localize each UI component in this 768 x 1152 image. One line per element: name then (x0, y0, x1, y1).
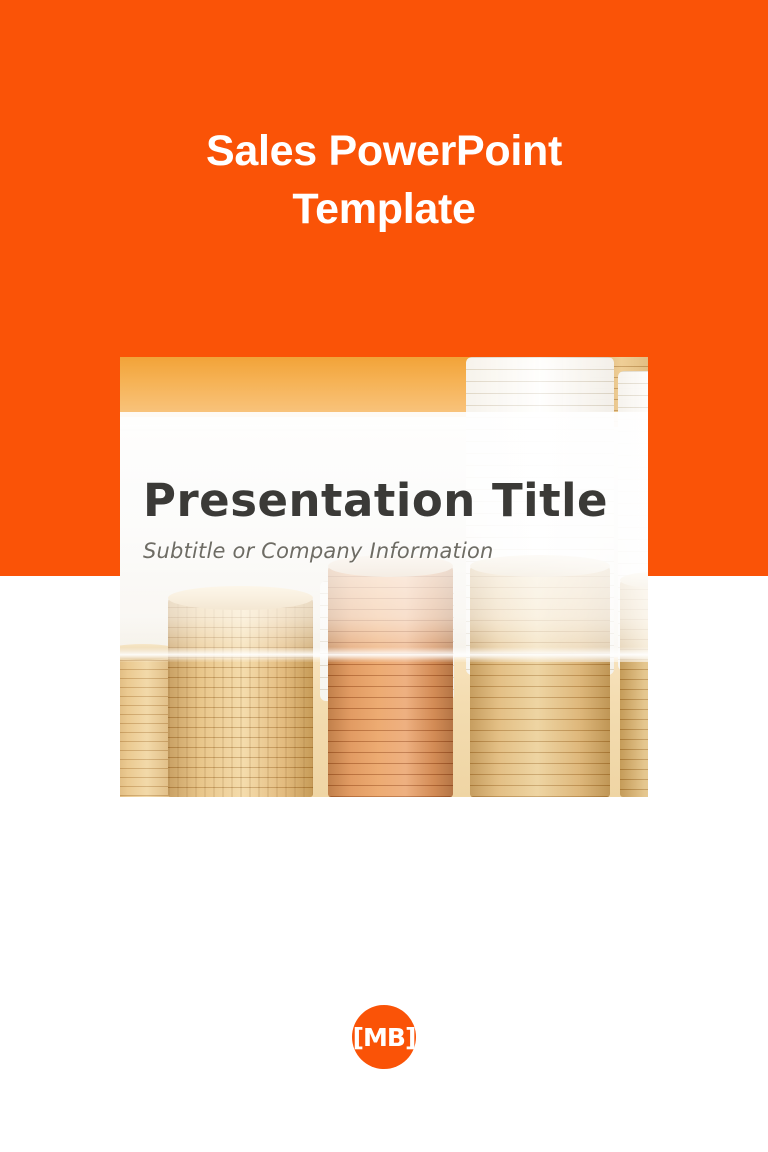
page-title: Sales PowerPoint Template (0, 122, 768, 238)
slide-highlight-seam (120, 647, 648, 661)
coin-stack-4-icon (470, 565, 610, 797)
coin-stack-3-icon (328, 565, 453, 797)
slide-preview-image[interactable]: Presentation Title Subtitle or Company I… (120, 357, 648, 797)
slide-title: Presentation Title (143, 475, 643, 527)
slide-text-block: Presentation Title Subtitle or Company I… (143, 475, 643, 563)
brand-logo[interactable]: [MB] (352, 1005, 416, 1069)
coin-stack-5-icon (620, 579, 648, 797)
slide-subtitle: Subtitle or Company Information (143, 539, 643, 563)
brand-logo-mark: [MB] (353, 1025, 416, 1050)
coin-stack-2-icon (168, 597, 313, 797)
